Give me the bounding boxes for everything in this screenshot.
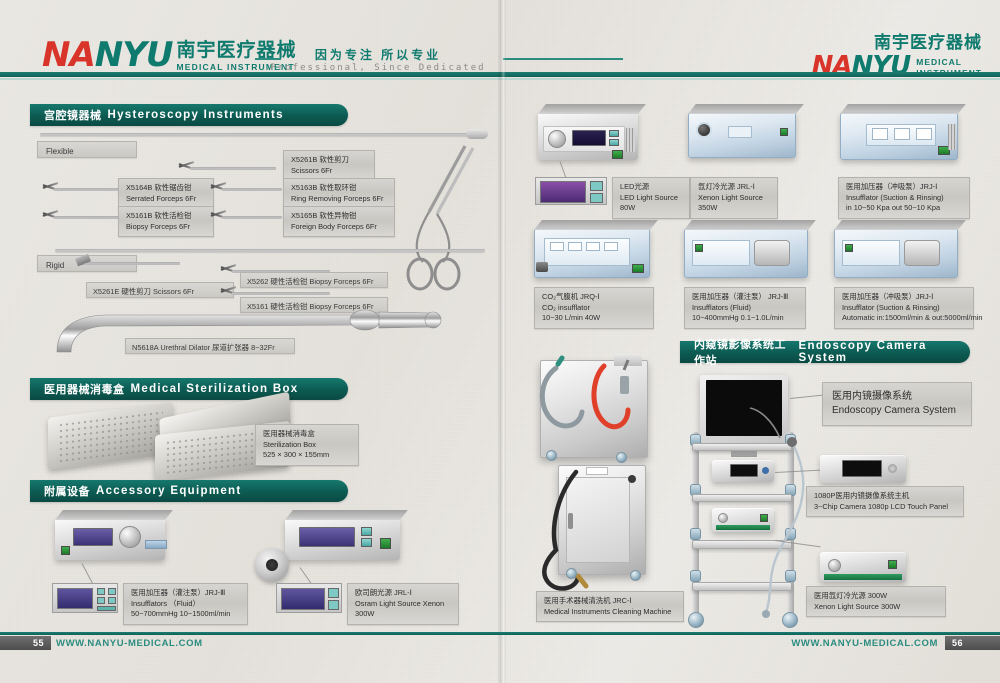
cleaning-machine-caster-2	[616, 452, 627, 463]
section-header-camera-system: 内窥镜影像系统工作站 Endoscopy Camera System	[680, 341, 970, 363]
cleaning-en: Medical Instruments Cleaning Machine	[544, 607, 676, 618]
caption-xenon-light-source: 氙灯冷光源 JRL-Ⅰ Xenon Light Source 350W	[690, 177, 778, 219]
caption-x5262: X5262 硬性活检钳 Biopsy Forceps 6Fr	[240, 272, 388, 288]
cart-camera-indicator-icon	[762, 467, 769, 474]
insuff1-display-3	[916, 128, 932, 140]
led-cn: LED光源	[620, 182, 682, 193]
cart-joint-7	[690, 570, 701, 582]
caption-xenon-300w: 医用氙灯冷光源 300W Xenon Light Source 300W	[806, 586, 946, 617]
xenon-en: Xenon Light Source	[698, 193, 770, 204]
caption-x5161b: X5161B 软性活检钳 Biopsy Forceps 6Fr	[118, 206, 214, 237]
code-x5165b: X5165B	[291, 211, 317, 220]
leader-line-1080p	[775, 470, 821, 473]
section-header-accessory: 附属设备 Accessory Equipment	[30, 480, 348, 502]
insuff2-en: Insufflator (Suction & Rinsing)	[842, 303, 966, 314]
insuff2-cn: 医用加压器（冲吸泵）JRJ-Ⅰ	[842, 292, 966, 303]
led-spec: 80W	[620, 203, 682, 214]
acc-osram-en: Osram Light Source Xenon	[355, 599, 451, 610]
xenon300-power-button[interactable]	[888, 560, 897, 569]
insufflator-power-button[interactable]	[61, 546, 70, 555]
section-header-sterilization: 医用器械消毒盒 Medical Sterilization Box	[30, 378, 348, 400]
osram-down-button[interactable]	[361, 538, 372, 547]
insufflator-screen	[73, 528, 113, 546]
brand-slogan: 因为专注 所以专业 Professional, Since Dedicated	[263, 46, 493, 73]
co2-display-2	[568, 242, 582, 251]
caption-led-light-source: LED光源 LED Light Source 80W	[612, 177, 690, 219]
flexible-scope-rod	[40, 133, 480, 136]
cleaning-machine-hoses	[528, 352, 658, 467]
endoscopy-monitor	[700, 375, 788, 445]
fluid-cn: 医用加压器（灌注泵） JRJ-Ⅲ	[692, 292, 798, 303]
lamp-module-icon	[255, 548, 289, 582]
page-number-left: 55	[26, 636, 51, 650]
en-x5161b: Biopsy Forceps 6Fr	[126, 222, 206, 233]
cleaning-machine-black-hose	[530, 468, 650, 608]
panel-thumb-led	[535, 177, 607, 205]
footer-url-right: WWW.NANYU-MEDICAL.COM	[791, 638, 938, 649]
caption-x5261b: X5261B 软性剪刀 Scissors 6Fr	[283, 150, 375, 181]
acc-insufflator-en: Insufflators （Fluid）	[131, 599, 240, 610]
xenon-port-icon	[696, 122, 712, 138]
co2-display-4	[604, 242, 618, 251]
cart-caster-left	[688, 612, 704, 628]
code-x5164b: X5164B	[126, 183, 152, 192]
code-x5163b: X5163B	[291, 183, 317, 192]
fluid-spec: 10~400mmHg 0.1~1.0L/min	[692, 313, 798, 324]
cart-joint-8	[785, 570, 796, 582]
cn-x5163b: 软性取环钳	[319, 183, 356, 192]
caption-x5261e: X5261E 硬性剪刀 Scissors 6Fr	[86, 282, 234, 298]
co2-cn: CO₂气腹机 JRQ-Ⅰ	[542, 292, 646, 303]
insuff1-en: Insufflator (Suction & Rinsing)	[846, 193, 962, 204]
device-xenon-300w	[820, 552, 906, 582]
cn-x5161b: 软性活检钳	[154, 211, 191, 220]
acc-insufflator-cn: 医用加压器（灌注泵）JRJ-Ⅲ	[131, 588, 240, 599]
panel-thumb-osram	[276, 583, 342, 613]
foreign-body-forceps-tip-icon	[210, 209, 226, 221]
rigid-scissors-shaft	[80, 262, 180, 265]
xenon300-en: Xenon Light Source 300W	[814, 602, 938, 613]
section-header-hysteroscopy: 宫腔镜器械 Hysteroscopy Instruments	[30, 104, 348, 126]
section-cn-hysteroscopy: 宫腔镜器械	[44, 107, 102, 123]
co2-display-1	[550, 242, 564, 251]
sterilization-size: 525 × 300 × 155mm	[263, 450, 351, 461]
panel-thumb-insufflator	[52, 583, 118, 613]
cart-light-power-button[interactable]	[760, 514, 768, 522]
xenon-spec: 350W	[698, 203, 770, 214]
brand-wordmark-left: NANYU	[42, 38, 173, 72]
caption-1080p-camera: 1080P医用内镜摄像系统主机 3~Chip Camera 1080p LCD …	[806, 486, 964, 517]
cart-light-knob-icon	[718, 513, 728, 523]
insuff2-spec: Automatic in:1500ml/min & out:5000ml/min	[842, 313, 966, 324]
osram-power-button[interactable]	[380, 538, 391, 549]
camera-1080p-en: 3~Chip Camera 1080p LCD Touch Panel	[814, 502, 956, 513]
insuff1-display-2	[894, 128, 910, 140]
fluid-en: Insufflators (Fluid)	[692, 303, 798, 314]
led-down-button[interactable]	[609, 139, 619, 146]
device-1080p-camera-host	[820, 455, 906, 483]
rigid-biopsy-tip-1-icon	[220, 263, 236, 275]
sterilization-en: Sterilization Box	[263, 440, 351, 451]
device-xenon-light-source	[688, 112, 796, 158]
co2-spec: 10~30 L/min 40W	[542, 313, 646, 324]
led-power-button[interactable]	[612, 150, 623, 159]
scissors-shaft	[190, 167, 276, 170]
co2-power-button[interactable]	[632, 264, 644, 273]
cart-light-source-unit	[712, 508, 774, 532]
section-cn-sterilization: 医用器械消毒盒	[44, 381, 125, 397]
acc-osram-spec: 300W	[355, 609, 451, 620]
caption-insufflator-suction-1: 医用加压器（冲吸泵）JRJ-Ⅰ Insufflator (Suction & R…	[838, 177, 970, 219]
caption-sterilization-box: 医用器械消毒盒 Sterilization Box 525 × 300 × 15…	[255, 424, 359, 466]
fluid-power-button[interactable]	[695, 244, 703, 252]
code-x5261b: X5261B	[291, 155, 317, 164]
caption-n5618a: N5618A Urethral Dilator 尿道扩张器 8~32Fr	[125, 338, 295, 354]
device-insufflator-fluid	[684, 228, 808, 278]
cn-x5164b: 软性锯齿钳	[154, 183, 191, 192]
co2-gas-port-icon	[536, 262, 548, 272]
caption-cleaning-machine: 医用手术器械清洗机 JRC-Ⅰ Medical Instruments Clea…	[536, 591, 684, 622]
cart-shelf-4	[692, 582, 792, 591]
caption-x5163b: X5163B 软性取环钳 Ring Removing Forceps 6Fr	[283, 178, 395, 209]
section-en-hysteroscopy: Hysteroscopy Instruments	[108, 109, 284, 121]
brand-logo-left: NANYU 南宇医疗器械 MEDICAL INSTRUMENT	[42, 38, 297, 72]
serrated-forceps-tip-icon	[42, 181, 58, 193]
cleaning-machine2-caster-2	[630, 570, 641, 581]
cart-shelf-1	[692, 443, 792, 451]
en-x5261b: Scissors 6Fr	[291, 166, 367, 177]
label-flexible: Flexible	[37, 141, 137, 158]
led-knob-icon	[548, 130, 566, 148]
xenon-display	[728, 126, 752, 138]
leader-line-camera-system	[790, 394, 824, 399]
co2-en: CO₂ insufflator	[542, 303, 646, 314]
insuff2-roller-pump-icon	[904, 240, 940, 266]
xenon-power-button[interactable]	[780, 128, 788, 136]
caption-x5165b: X5165B 软性异物钳 Foreign Body Forceps 6Fr	[283, 206, 395, 237]
xenon300-cn: 医用氙灯冷光源 300W	[814, 591, 938, 602]
en-x5165b: Foreign Body Forceps 6Fr	[291, 222, 387, 233]
biopsy-forceps-tip-icon	[42, 209, 58, 221]
acc-osram-cn: 欧司朗光源 JRL-Ⅰ	[355, 588, 451, 599]
device-led-light-source	[538, 112, 638, 160]
large-scissors-illustration	[395, 140, 490, 300]
caption-insufflator-suction-2: 医用加压器（冲吸泵）JRJ-Ⅰ Insufflator (Suction & R…	[834, 287, 974, 329]
slogan-dash-right-icon	[503, 58, 623, 60]
insufflator-syringe-icon	[145, 540, 167, 549]
fluid-roller-pump-icon	[754, 240, 790, 266]
insuff2-power-button[interactable]	[845, 244, 853, 252]
insuff1-cn: 医用加压器（冲吸泵）JRJ-Ⅰ	[846, 182, 962, 193]
cn-x5165b: 软性异物钳	[319, 211, 356, 220]
caption-endoscopy-camera-system: 医用内镜摄像系统 Endoscopy Camera System	[822, 382, 972, 426]
scissors-tip-icon	[178, 160, 194, 172]
device-co2-insufflator	[534, 228, 650, 278]
device-osram-light-source	[285, 518, 400, 560]
camera-system-cn: 医用内镜摄像系统	[832, 390, 962, 404]
footer-page-bar-right	[970, 636, 1000, 650]
cleaning-cn: 医用手术器械清洗机 JRC-Ⅰ	[544, 596, 676, 607]
led-en: LED Light Source	[620, 193, 682, 204]
slogan-dash-left-icon	[255, 58, 281, 60]
xenon300-port-icon	[828, 559, 841, 572]
caption-co2-insufflator: CO₂气腹机 JRQ-Ⅰ CO₂ insufflator 10~30 L/min…	[534, 287, 654, 329]
section-en-sterilization: Medical Sterilization Box	[131, 383, 299, 395]
led-screen	[572, 130, 606, 146]
section-cn-camera: 内窥镜影像系统工作站	[694, 336, 793, 368]
insufflator-knob-icon	[119, 526, 141, 548]
caption-accessory-insufflator: 医用加压器（灌注泵）JRJ-Ⅲ Insufflators （Fluid） 50~…	[123, 583, 248, 625]
footer-url-left: WWW.NANYU-MEDICAL.COM	[56, 638, 203, 649]
caption-insufflator-fluid: 医用加压器（灌注泵） JRJ-Ⅲ Insufflators (Fluid) 10…	[684, 287, 806, 329]
page-spine	[498, 0, 506, 683]
device-insufflator-suction-rinsing-2	[834, 228, 958, 278]
cn-x5261b: 软性剪刀	[319, 155, 349, 164]
device-insufflator-fluid	[55, 518, 165, 560]
section-en-camera: Endoscopy Camera System	[799, 340, 954, 364]
rigid-scope-rod	[55, 249, 485, 252]
ring-forceps-tip-icon	[210, 181, 226, 193]
caption-x5164b: X5164B 软性锯齿钳 Serrated Forceps 6Fr	[118, 178, 214, 209]
osram-up-button[interactable]	[361, 527, 372, 536]
cart-joint-5	[690, 528, 701, 540]
ring-forceps-shaft	[222, 188, 282, 191]
cart-caster-right	[782, 612, 798, 628]
camera-1080p-cn: 1080P医用内镜摄像系统主机	[814, 491, 956, 502]
co2-display-3	[586, 242, 600, 251]
footer-rule	[0, 632, 1000, 635]
acc-insufflator-spec: 50~700mmHg 10~1500ml/min	[131, 609, 240, 620]
xenon300-green-stripe	[824, 574, 902, 580]
device-insufflator-suction-rinsing-1	[840, 112, 958, 160]
cart-shelf-2	[692, 494, 792, 502]
rigid-biopsy-tip-2-icon	[220, 285, 236, 297]
insuff1-display-1	[872, 128, 888, 140]
insuff1-spec: in 10~50 Kpa out 50~10 Kpa	[846, 203, 962, 214]
rigid-biopsy-shaft-2	[232, 292, 330, 295]
camera-system-en: Endoscopy Camera System	[832, 404, 962, 418]
cart-camera-unit	[712, 460, 774, 482]
code-x5161b: X5161B	[126, 211, 152, 220]
camera-host-knob-icon	[888, 464, 897, 473]
sterilization-cn: 医用器械消毒盒	[263, 429, 351, 440]
caption-accessory-osram: 欧司朗光源 JRL-Ⅰ Osram Light Source Xenon 300…	[347, 583, 459, 625]
cart-light-green-stripe	[716, 525, 770, 530]
section-en-accessory: Accessory Equipment	[96, 485, 242, 497]
brand-en-right-1: MEDICAL	[916, 57, 982, 68]
catalog-page: NANYU 南宇医疗器械 MEDICAL INSTRUMENT 因为专注 所以专…	[0, 0, 1000, 683]
flexible-scope-handle	[466, 129, 488, 139]
led-up-button[interactable]	[609, 130, 619, 137]
en-x5164b: Serrated Forceps 6Fr	[126, 194, 206, 205]
cleaning-machine2-caster-1	[566, 568, 577, 579]
cart-joint-6	[785, 528, 796, 540]
slogan-cn: 因为专注 所以专业	[263, 46, 493, 63]
page-number-right: 56	[945, 636, 970, 650]
section-cn-accessory: 附属设备	[44, 483, 90, 499]
osram-screen	[299, 527, 355, 547]
foreign-body-forceps-shaft	[222, 216, 282, 219]
xenon-cn: 氙灯冷光源 JRL-Ⅰ	[698, 182, 770, 193]
en-x5163b: Ring Removing Forceps 6Fr	[291, 194, 387, 205]
cleaning-machine-caster-1	[546, 450, 557, 461]
